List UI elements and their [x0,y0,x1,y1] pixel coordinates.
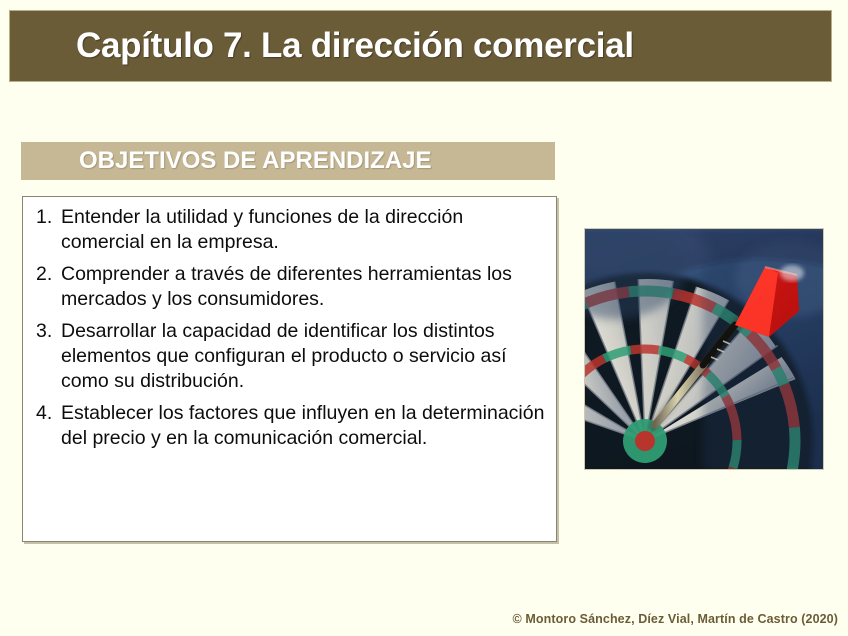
slide-title-bar: Capítulo 7. La dirección comercial [9,10,832,82]
list-item-number: 3. [31,319,61,344]
dartboard-with-dart-photo [584,228,824,470]
list-item: 2. Comprender a través de diferentes her… [31,262,546,312]
slide-canvas: Capítulo 7. La dirección comercial OBJET… [0,0,848,636]
list-item-text: Establecer los factores que influyen en … [61,401,546,451]
objectives-section-header: OBJETIVOS DE APRENDIZAJE [21,142,555,180]
page-title: Capítulo 7. La dirección comercial [10,26,634,66]
list-item-number: 2. [31,262,61,287]
dartboard-illustration [585,229,824,470]
list-item-text: Comprender a través de diferentes herram… [61,262,546,312]
list-item-number: 4. [31,401,61,426]
list-item: 1. Entender la utilidad y funciones de l… [31,205,546,255]
footer-copyright: © Montoro Sánchez, Díez Vial, Martín de … [0,612,838,626]
list-item-number: 1. [31,205,61,230]
list-item: 3. Desarrollar la capacidad de identific… [31,319,546,394]
list-item-text: Entender la utilidad y funciones de la d… [61,205,546,255]
list-item-text: Desarrollar la capacidad de identificar … [61,319,546,394]
objectives-header-label: OBJETIVOS DE APRENDIZAJE [21,147,432,175]
list-item: 4. Establecer los factores que influyen … [31,401,546,451]
objectives-list: 1. Entender la utilidad y funciones de l… [31,205,546,451]
objectives-content-box: 1. Entender la utilidad y funciones de l… [22,196,557,542]
